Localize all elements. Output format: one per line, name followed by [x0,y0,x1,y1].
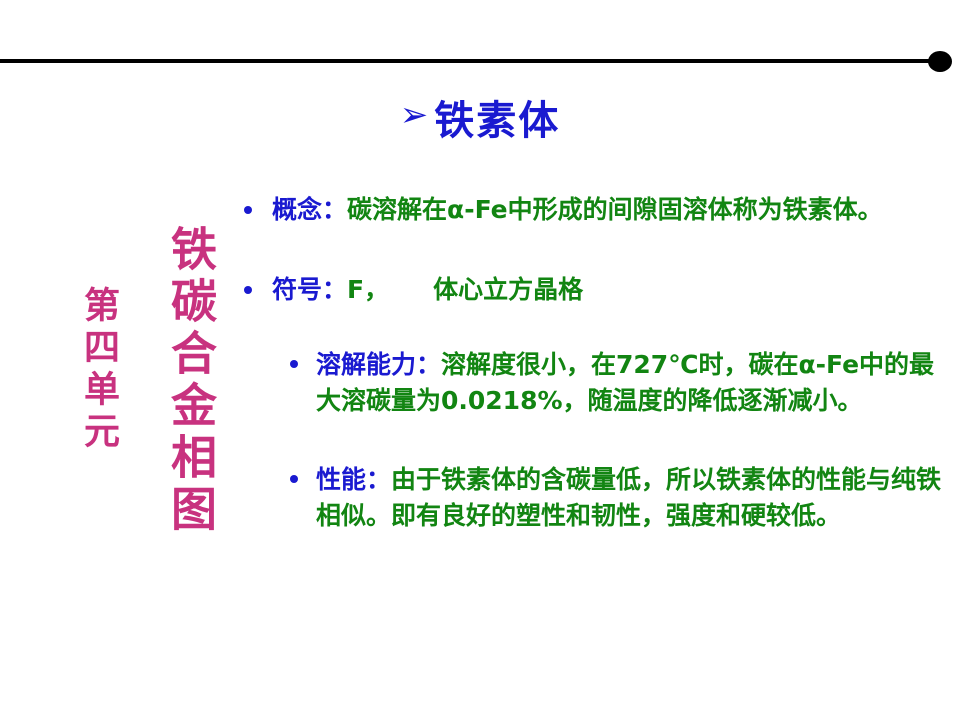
bullet-symbol-body-extra: 体心立方晶格 [433,275,583,304]
bullet-properties-label: 性能： [316,465,391,494]
bullet-concept: 概念：碳溶解在α-Fe中形成的间隙固溶体称为铁素体。 [244,192,944,228]
sidebar-unit-label: 第四单元 [72,286,124,454]
spacer-1 [244,228,944,272]
spacer-2 [244,307,944,347]
bullet-solubility: 溶解能力：溶解度很小，在727℃时，碳在α-Fe中的最大溶碳量为0.0218%，… [290,347,944,418]
bullet-properties-text: 性能：由于铁素体的含碳量低，所以铁素体的性能与纯铁相似。即有良好的塑性和韧性，强… [316,462,944,533]
arrow-bullet-icon: ➢ [400,98,429,132]
presentation-slide: ➢ 铁素体 第四单元 铁碳合金相图 概念：碳溶解在α-Fe中形成的间隙固溶体称为… [0,0,960,720]
bullet-concept-body: 碳溶解在α-Fe中形成的间隙固溶体称为铁素体。 [347,195,883,224]
bullet-symbol-label: 符号： [272,275,347,304]
slide-title-row: ➢ 铁素体 [0,88,960,146]
bullet-solubility-label: 溶解能力： [316,350,441,379]
bullet-properties: 性能：由于铁素体的含碳量低，所以铁素体的性能与纯铁相似。即有良好的塑性和韧性，强… [290,462,944,533]
rule-end-bead-icon [928,51,952,72]
bullet-symbol-body: F， [347,275,389,304]
bullet-symbol-text: 符号：F，体心立方晶格 [272,272,583,308]
top-horizontal-rule [0,59,934,63]
bullet-dot-icon [244,286,252,294]
top-rule-decoration [0,50,960,74]
bullet-dot-icon [290,360,298,368]
bullet-properties-body: 由于铁素体的含碳量低，所以铁素体的性能与纯铁相似。即有良好的塑性和韧性，强度和硬… [316,465,941,530]
sidebar-chapter-label: 铁碳合金相图 [158,225,224,537]
bullet-solubility-text: 溶解能力：溶解度很小，在727℃时，碳在α-Fe中的最大溶碳量为0.0218%，… [316,347,944,418]
bullet-concept-text: 概念：碳溶解在α-Fe中形成的间隙固溶体称为铁素体。 [272,192,883,228]
bullet-symbol: 符号：F，体心立方晶格 [244,272,944,308]
bullet-dot-icon [290,475,298,483]
bullet-dot-icon [244,206,252,214]
bullet-concept-label: 概念： [272,195,347,224]
page-title: 铁素体 [434,88,560,146]
spacer-3 [244,418,944,462]
slide-content-body: 概念：碳溶解在α-Fe中形成的间隙固溶体称为铁素体。 符号：F，体心立方晶格 溶… [244,192,944,533]
